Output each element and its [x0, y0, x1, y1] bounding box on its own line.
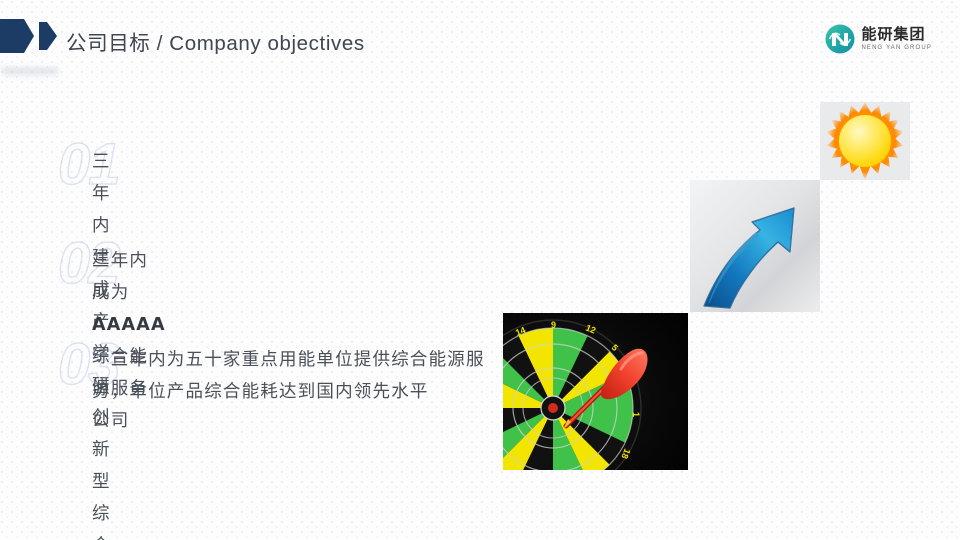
dartboard-image: 12 5 2 1 18 4 9 14: [503, 313, 688, 470]
growth-arrow-image: [690, 180, 820, 312]
sun-image: [820, 102, 910, 180]
growth-arrow-icon: [690, 180, 820, 312]
objective-text-02-before: 三年内成为: [92, 251, 148, 303]
objective-text-03: 三年内为五十家重点用能单位提供综合能源服务，单位产品综合能耗达到国内领先水平: [92, 344, 492, 408]
svg-text:1: 1: [631, 412, 641, 417]
dartboard-icon: 12 5 2 1 18 4 9 14: [503, 313, 688, 470]
slide-canvas: 公司目标 / Company objectives 能研集团 NENG YAN …: [0, 0, 960, 540]
svg-text:9: 9: [551, 320, 556, 330]
sun-core-icon: [839, 115, 891, 167]
